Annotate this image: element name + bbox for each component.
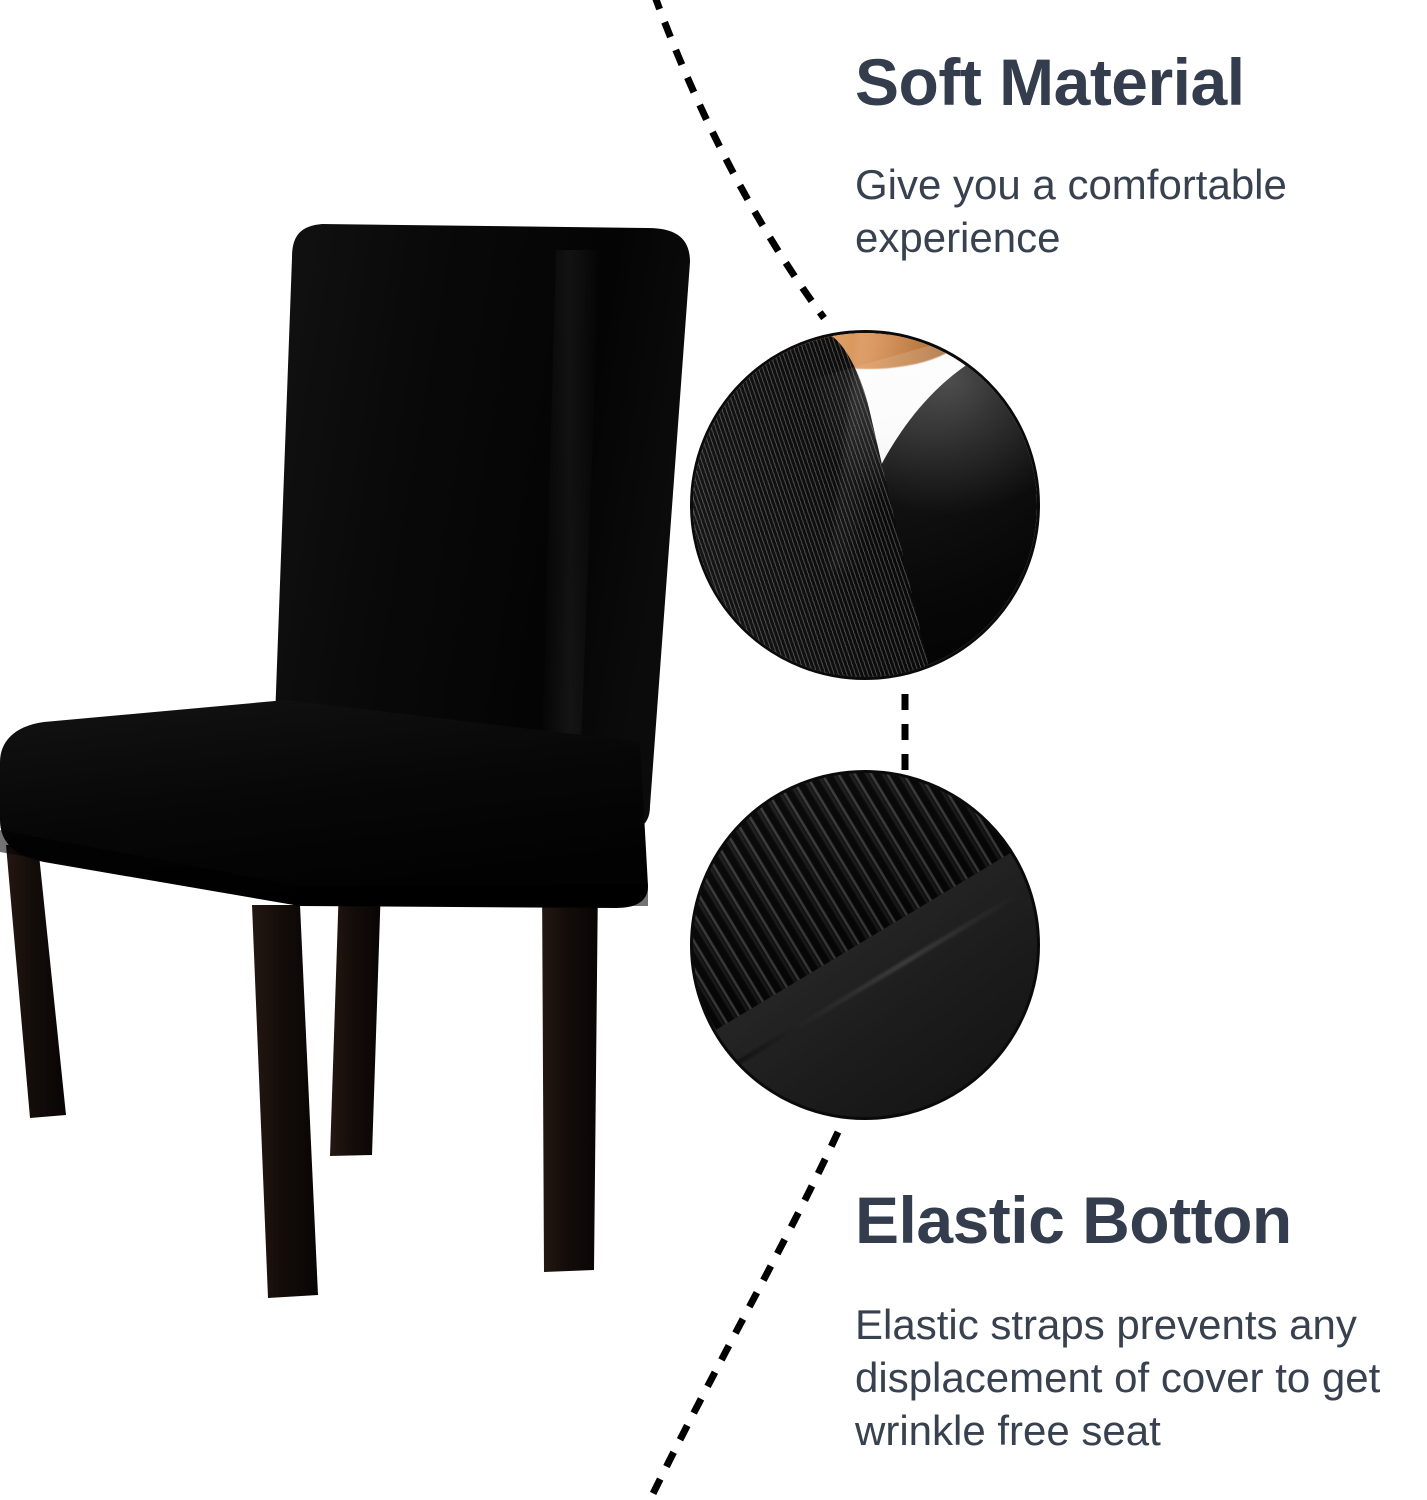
feature-body-elastic-botton: Elastic straps prevents any displacement… bbox=[855, 1299, 1415, 1458]
fabric-texture-closeup-inset bbox=[690, 330, 1040, 680]
chair-leg-front-right bbox=[542, 878, 598, 1272]
feature-elastic-botton: Elastic Botton Elastic straps prevents a… bbox=[855, 1186, 1415, 1458]
feature-heading-elastic-botton: Elastic Botton bbox=[855, 1186, 1415, 1255]
feature-soft-material: Soft Material Give you a comfortable exp… bbox=[855, 48, 1400, 265]
feature-heading-soft-material: Soft Material bbox=[855, 48, 1400, 117]
feature-body-soft-material: Give you a comfortable experience bbox=[855, 159, 1400, 265]
chair-with-cover-illustration bbox=[0, 0, 760, 1330]
infographic-canvas: Soft Material Give you a comfortable exp… bbox=[0, 0, 1427, 1500]
elastic-hem-closeup-inset bbox=[690, 770, 1040, 1120]
chair-legs-group bbox=[6, 845, 598, 1298]
chair-leg-front-left bbox=[252, 905, 318, 1298]
chair-leg-back-left bbox=[6, 845, 66, 1118]
